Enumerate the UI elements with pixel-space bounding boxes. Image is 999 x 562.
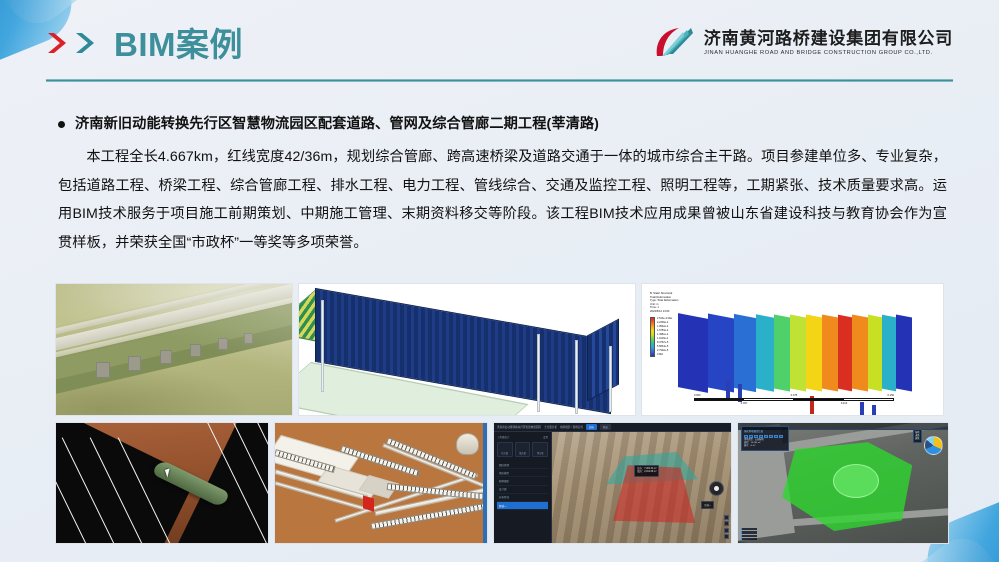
stat-card-net[interactable]: 净方量 bbox=[532, 442, 548, 457]
sidebar-header-right[interactable]: 设置 bbox=[543, 435, 548, 439]
fea-scale-mid-label: 0.113 bbox=[841, 402, 847, 405]
compass-navigation-icon[interactable] bbox=[709, 481, 724, 496]
image-gis-landuse-view[interactable]: 绿化用地属性信息 用地类型：公园绿地 面积：18,466 m² 编号：G-07 … bbox=[737, 422, 949, 544]
project-description: 本工程全长4.667km，红线宽度42/36m，规划综合管廊、跨高速桥梁及道路交… bbox=[58, 143, 947, 257]
slide-header: BIM案例 济南黄河路桥建设集团有限公司 JINAN HUANGHE ROAD … bbox=[46, 20, 953, 72]
image-utility-tunnel-model[interactable] bbox=[274, 422, 488, 544]
viewport-tool-column[interactable] bbox=[724, 515, 729, 540]
zoom-in-icon[interactable] bbox=[724, 515, 729, 520]
mesh-support-column bbox=[609, 346, 612, 412]
fea-scale-label: 0.075 bbox=[791, 394, 798, 397]
company-mark-icon bbox=[653, 26, 695, 60]
contour-segment bbox=[896, 314, 912, 391]
tree-item[interactable]: 分析区域 bbox=[497, 494, 548, 502]
stat-card-group: 挖方量 填方量 净方量 bbox=[497, 442, 548, 457]
image-road-3d-model[interactable] bbox=[55, 422, 269, 544]
gallery-row-1: B: Static Structural Total Deformation T… bbox=[55, 283, 944, 416]
fea-scale-label: 0.000 bbox=[694, 394, 701, 397]
fea-tick-list: 2.513e-4 Max 2.2336e-4 1.9542e-4 1.6753e… bbox=[657, 317, 672, 357]
stat-card-fill[interactable]: 填方量 bbox=[515, 442, 531, 457]
contour-segment bbox=[708, 313, 734, 392]
image-girder-mesh-model[interactable] bbox=[298, 283, 636, 416]
company-name-block: 济南黄河路桥建设集团有限公司 JINAN HUANGHE ROAD AND BR… bbox=[704, 29, 953, 58]
girder-support-leg bbox=[872, 405, 876, 416]
tree-item[interactable]: 设计面 bbox=[497, 486, 548, 494]
measure-icon[interactable] bbox=[724, 528, 729, 533]
attribute-info-panel: 绿化用地属性信息 用地类型：公园绿地 面积：18,466 m² 编号：G-07 bbox=[741, 426, 789, 451]
app-sidebar: 工程量统计 设置 挖方量 填方量 净方量 图层管理 地形模型 倾斜摄影 设计面 … bbox=[494, 432, 552, 543]
mesh-end-wall bbox=[587, 318, 619, 401]
region-chip: 区域一 bbox=[701, 501, 714, 509]
layer-toggle[interactable] bbox=[741, 528, 757, 530]
export-button[interactable]: 导出 bbox=[600, 424, 611, 430]
image-road-aerial-render[interactable] bbox=[55, 283, 293, 416]
layer-toggle-list[interactable] bbox=[741, 528, 757, 540]
project-heading: 济南新旧动能转换先行区智慧物流园区配套道路、管网及综合管廊二期工程(莘清路) bbox=[75, 112, 599, 136]
contour-segment bbox=[734, 314, 756, 392]
image-gallery: B: Static Structural Total Deformation T… bbox=[55, 283, 944, 544]
mesh-support-column bbox=[321, 300, 324, 392]
fea-scale-mid-labels: 0.037 0.113 bbox=[694, 402, 894, 405]
site-photogrammetry-viewport[interactable]: 挖方：7,482.31 m³ 填方：2,014.66 m³ 区域一 bbox=[552, 432, 731, 543]
layer-toggle[interactable] bbox=[741, 531, 757, 533]
fea-scale-label: 0.150 bbox=[888, 394, 895, 397]
landuse-pie-chart bbox=[924, 436, 943, 455]
stat-card-cut[interactable]: 挖方量 bbox=[497, 442, 513, 457]
stat-card-label: 挖方量 bbox=[502, 451, 509, 455]
attribute-panel-title: 绿化用地属性信息 bbox=[744, 429, 786, 433]
viewport-edge bbox=[483, 423, 487, 543]
tree-item-selected[interactable]: 区域一 bbox=[497, 502, 548, 510]
fea-scale-segments bbox=[694, 398, 894, 401]
app-subtitle: 土方量分析 bbox=[544, 425, 557, 429]
tooltip-line: 填方：2,014.66 m³ bbox=[637, 471, 656, 474]
company-logo: 济南黄河路桥建设集团有限公司 JINAN HUANGHE ROAD AND BR… bbox=[653, 26, 953, 60]
contour-segment bbox=[806, 314, 822, 391]
plaza-circle-feature bbox=[833, 464, 879, 498]
contour-segment bbox=[852, 314, 868, 391]
stat-card-label: 填方量 bbox=[519, 451, 526, 455]
contour-segment bbox=[774, 314, 790, 391]
tree-item[interactable]: 图层管理 bbox=[497, 461, 548, 469]
valve-marker bbox=[363, 495, 374, 511]
fea-scale-mid-label: 0.037 bbox=[741, 402, 748, 405]
sidebar-header-left: 工程量统计 bbox=[497, 435, 510, 439]
chevron-group bbox=[46, 30, 100, 56]
fea-tick: 0 Min bbox=[657, 353, 672, 357]
fea-scale-bar: 0.000 0.075 0.150 0.037 0.113 bbox=[694, 394, 894, 405]
legend-entry: 建筑 bbox=[915, 438, 919, 441]
contour-segment bbox=[756, 314, 774, 391]
chevron-right-red-icon bbox=[46, 30, 72, 56]
contour-segment bbox=[868, 315, 882, 392]
slide-content: 济南新旧动能转换先行区智慧物流园区配套道路、管网及综合管廊二期工程(莘清路) 本… bbox=[58, 112, 947, 257]
contour-segment bbox=[790, 314, 806, 391]
chevron-right-teal-icon bbox=[74, 30, 100, 56]
mesh-stage bbox=[299, 284, 635, 415]
layers-icon[interactable] bbox=[724, 534, 729, 539]
measurement-tooltip: 挖方：7,482.31 m³ 填方：2,014.66 m³ bbox=[634, 465, 659, 477]
image-earthwork-analysis-app[interactable]: 济南新旧动能转换先行区智慧物流园区 土方量分析 倾斜摄影 / 现场实景 分析 导… bbox=[493, 422, 732, 544]
bullet-dot-icon bbox=[58, 121, 65, 128]
tree-item[interactable]: 倾斜摄影 bbox=[497, 477, 548, 485]
company-name-en: JINAN HUANGHE ROAD AND BRIDGE CONSTRUCTI… bbox=[704, 49, 958, 58]
deformed-girder-model bbox=[678, 316, 912, 390]
bullet-heading-row: 济南新旧动能转换先行区智慧物流园区配套道路、管网及综合管廊二期工程(莘清路) bbox=[58, 112, 947, 136]
header-divider bbox=[46, 79, 953, 82]
analyze-button[interactable]: 分析 bbox=[586, 424, 597, 430]
app-title: 济南新旧动能转换先行区智慧物流园区 bbox=[497, 425, 541, 429]
gallery-row-2: 济南新旧动能转换先行区智慧物流园区 土方量分析 倾斜摄影 / 现场实景 分析 导… bbox=[55, 422, 944, 544]
page-title: BIM案例 bbox=[114, 22, 243, 68]
stat-card-label: 净方量 bbox=[537, 451, 544, 455]
tree-item[interactable]: 地形模型 bbox=[497, 469, 548, 477]
sidebar-header: 工程量统计 设置 bbox=[497, 435, 548, 439]
mesh-support-column bbox=[537, 334, 540, 412]
attribute-chip-row bbox=[744, 435, 786, 438]
layer-toggle[interactable] bbox=[741, 538, 757, 540]
company-name-cn: 济南黄河路桥建设集团有限公司 bbox=[704, 29, 953, 49]
app-breadcrumb: 倾斜摄影 / 现场实景 bbox=[560, 425, 583, 429]
fea-scale-labels: 0.000 0.075 0.150 bbox=[694, 394, 894, 397]
map-legend: 绿地 道路 建筑 bbox=[913, 429, 922, 443]
attribute-row: 编号：G-07 bbox=[744, 445, 786, 448]
manhole-shaft bbox=[456, 433, 479, 455]
contour-segment bbox=[822, 314, 838, 391]
mesh-support-column bbox=[575, 340, 578, 414]
layer-toggle[interactable] bbox=[741, 535, 757, 537]
fea-color-bar bbox=[650, 317, 655, 357]
contour-segment bbox=[882, 315, 896, 392]
image-deformation-contour[interactable]: B: Static Structural Total Deformation T… bbox=[641, 283, 944, 416]
app-topbar: 济南新旧动能转换先行区智慧物流园区 土方量分析 倾斜摄影 / 现场实景 分析 导… bbox=[494, 423, 731, 432]
contour-segment bbox=[838, 315, 852, 392]
atmospheric-haze bbox=[56, 284, 292, 415]
contour-segment bbox=[678, 313, 708, 393]
zoom-out-icon[interactable] bbox=[724, 521, 729, 526]
